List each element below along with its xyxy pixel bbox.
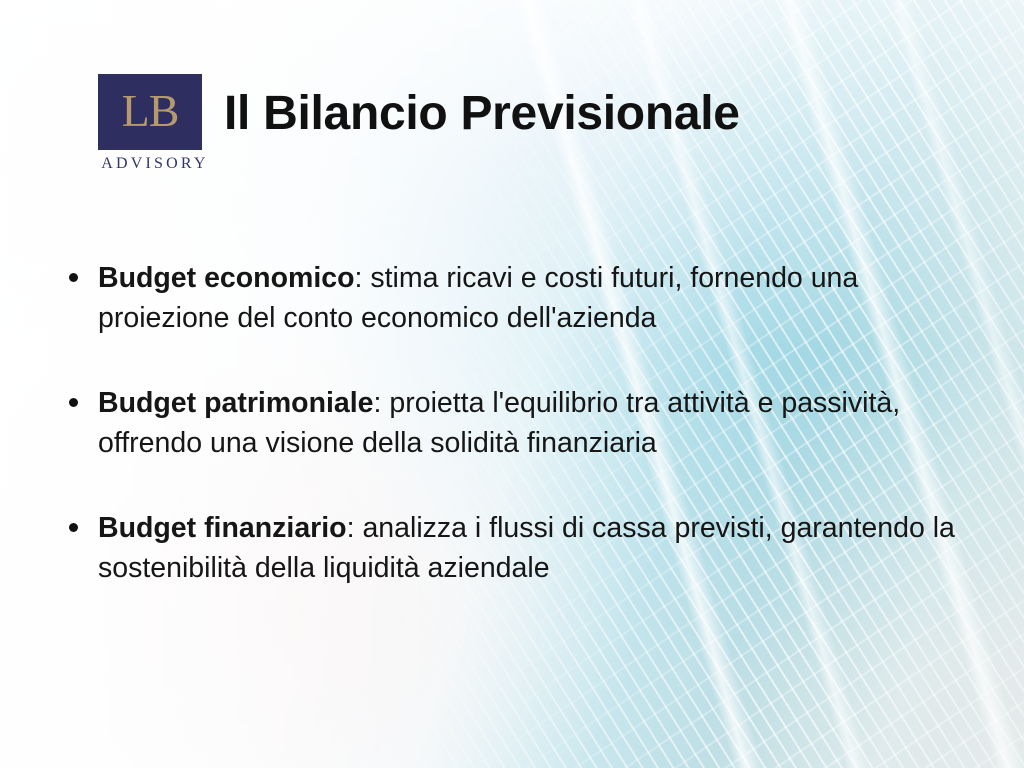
bullet-separator: : bbox=[347, 512, 363, 544]
bullet-dot-icon bbox=[69, 273, 78, 282]
bullet-item: Budget finanziario: analizza i flussi di… bbox=[60, 508, 980, 589]
bullet-lead: Budget economico bbox=[98, 262, 355, 294]
bullet-dot-icon bbox=[69, 398, 78, 407]
bullet-separator: : bbox=[355, 262, 371, 294]
slide-title: Il Bilancio Previsionale bbox=[224, 86, 740, 141]
logo-wordmark: ADVISORY bbox=[98, 155, 202, 173]
logo-monogram: LB bbox=[122, 88, 179, 134]
bullet-item: Budget economico: stima ricavi e costi f… bbox=[60, 258, 980, 339]
bullet-lead: Budget finanziario bbox=[98, 512, 347, 544]
bullet-list: Budget economico: stima ricavi e costi f… bbox=[60, 258, 980, 589]
bullet-separator: : bbox=[374, 387, 390, 419]
logo-mark-box: LB bbox=[98, 74, 202, 150]
bullet-item: Budget patrimoniale: proietta l'equilibr… bbox=[60, 383, 980, 464]
bullet-lead: Budget patrimoniale bbox=[98, 387, 374, 419]
slide: LB ADVISORY Il Bilancio Previsionale Bud… bbox=[0, 0, 1024, 768]
bullet-dot-icon bbox=[69, 523, 78, 532]
company-logo: LB ADVISORY bbox=[98, 74, 202, 173]
slide-header: LB ADVISORY Il Bilancio Previsionale bbox=[98, 74, 740, 173]
